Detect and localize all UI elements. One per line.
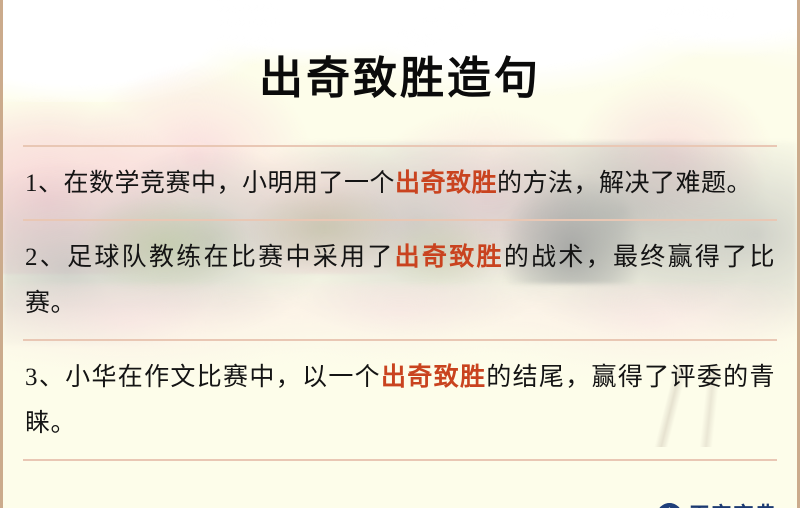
sentence-item-2: 2、足球队教练在比赛中采用了出奇致胜的战术，最终赢得了比赛。 bbox=[3, 221, 797, 339]
sentence-text-before-3: 小华在作文比赛中，以一个 bbox=[65, 364, 381, 391]
sentence-number-2: 2、 bbox=[25, 244, 67, 271]
sentence-text-after-1: 的方法，解决了难题。 bbox=[497, 170, 752, 197]
sentence-text-before-1: 在数学竞赛中，小明用了一个 bbox=[64, 170, 396, 197]
idiom-highlight-2: 出奇致胜 bbox=[395, 244, 504, 271]
tianan-seal-icon bbox=[657, 503, 682, 508]
sentence-number-1: 1、 bbox=[25, 170, 64, 197]
idiom-highlight-1: 出奇致胜 bbox=[395, 170, 497, 197]
page-content: 出奇致胜造句 1、在数学竞赛中，小明用了一个出奇致胜的方法，解决了难题。 2、足… bbox=[3, 29, 797, 508]
sentence-number-3: 3、 bbox=[25, 364, 65, 391]
sentence-list: 1、在数学竞赛中，小明用了一个出奇致胜的方法，解决了难题。 2、足球队教练在比赛… bbox=[3, 147, 797, 461]
divider-bottom bbox=[23, 459, 777, 461]
brand-footer: 天安字典 bbox=[657, 499, 777, 508]
idiom-highlight-3: 出奇致胜 bbox=[381, 364, 486, 391]
sentence-item-3: 3、小华在作文比赛中，以一个出奇致胜的结尾，赢得了评委的青睐。 bbox=[3, 341, 797, 459]
sentence-item-1: 1、在数学竞赛中，小明用了一个出奇致胜的方法，解决了难题。 bbox=[3, 147, 797, 219]
page-title: 出奇致胜造句 bbox=[3, 29, 797, 115]
sentence-text-before-2: 足球队教练在比赛中采用了 bbox=[67, 244, 395, 271]
page-canvas: 出奇致胜造句 1、在数学竞赛中，小明用了一个出奇致胜的方法，解决了难题。 2、足… bbox=[0, 0, 800, 508]
